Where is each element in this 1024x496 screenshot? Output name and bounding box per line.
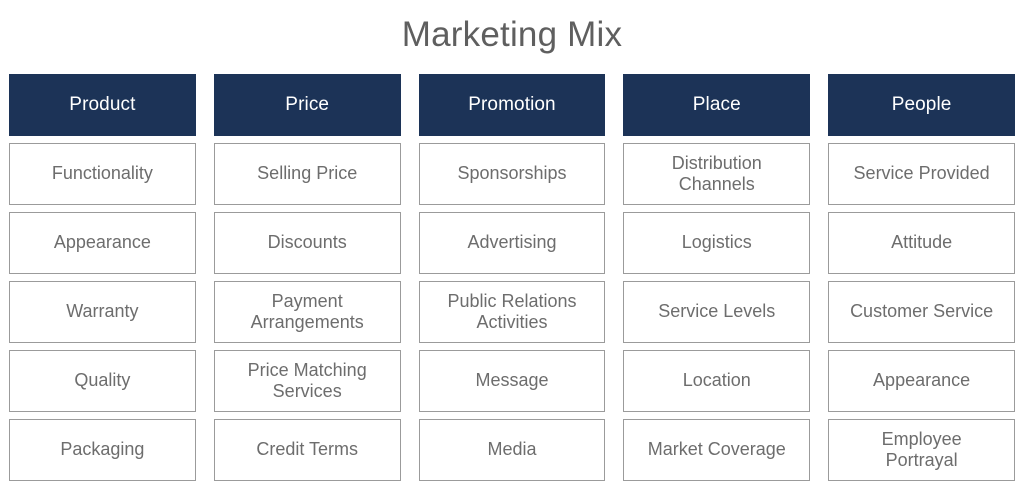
column-product: Product Functionality Appearance Warrant…: [9, 74, 196, 481]
cell-people-1[interactable]: Service Provided: [828, 143, 1015, 205]
column-header-people[interactable]: People: [828, 74, 1015, 136]
cell-place-5[interactable]: Market Coverage: [623, 419, 810, 481]
cell-people-3[interactable]: Customer Service: [828, 281, 1015, 343]
cell-price-4[interactable]: Price Matching Services: [214, 350, 401, 412]
column-header-place[interactable]: Place: [623, 74, 810, 136]
cell-product-3[interactable]: Warranty: [9, 281, 196, 343]
cell-people-5[interactable]: Employee Portrayal: [828, 419, 1015, 481]
cell-place-4[interactable]: Location: [623, 350, 810, 412]
cell-product-5[interactable]: Packaging: [9, 419, 196, 481]
column-people: People Service Provided Attitude Custome…: [828, 74, 1015, 481]
cell-people-4[interactable]: Appearance: [828, 350, 1015, 412]
cell-promotion-1[interactable]: Sponsorships: [419, 143, 606, 205]
page-title: Marketing Mix: [0, 0, 1024, 52]
marketing-mix-grid: Product Functionality Appearance Warrant…: [0, 74, 1024, 481]
cell-price-2[interactable]: Discounts: [214, 212, 401, 274]
column-place: Place Distribution Channels Logistics Se…: [623, 74, 810, 481]
marketing-mix-diagram: Marketing Mix Product Functionality Appe…: [0, 0, 1024, 496]
column-price: Price Selling Price Discounts Payment Ar…: [214, 74, 401, 481]
cell-product-4[interactable]: Quality: [9, 350, 196, 412]
cell-promotion-5[interactable]: Media: [419, 419, 606, 481]
cell-promotion-3[interactable]: Public Relations Activities: [419, 281, 606, 343]
cell-promotion-4[interactable]: Message: [419, 350, 606, 412]
cell-price-5[interactable]: Credit Terms: [214, 419, 401, 481]
cell-price-1[interactable]: Selling Price: [214, 143, 401, 205]
cell-promotion-2[interactable]: Advertising: [419, 212, 606, 274]
cell-place-3[interactable]: Service Levels: [623, 281, 810, 343]
column-header-product[interactable]: Product: [9, 74, 196, 136]
column-header-promotion[interactable]: Promotion: [419, 74, 606, 136]
cell-place-1[interactable]: Distribution Channels: [623, 143, 810, 205]
cell-product-1[interactable]: Functionality: [9, 143, 196, 205]
cell-people-2[interactable]: Attitude: [828, 212, 1015, 274]
cell-price-3[interactable]: Payment Arrangements: [214, 281, 401, 343]
column-header-price[interactable]: Price: [214, 74, 401, 136]
cell-place-2[interactable]: Logistics: [623, 212, 810, 274]
cell-product-2[interactable]: Appearance: [9, 212, 196, 274]
column-promotion: Promotion Sponsorships Advertising Publi…: [419, 74, 606, 481]
